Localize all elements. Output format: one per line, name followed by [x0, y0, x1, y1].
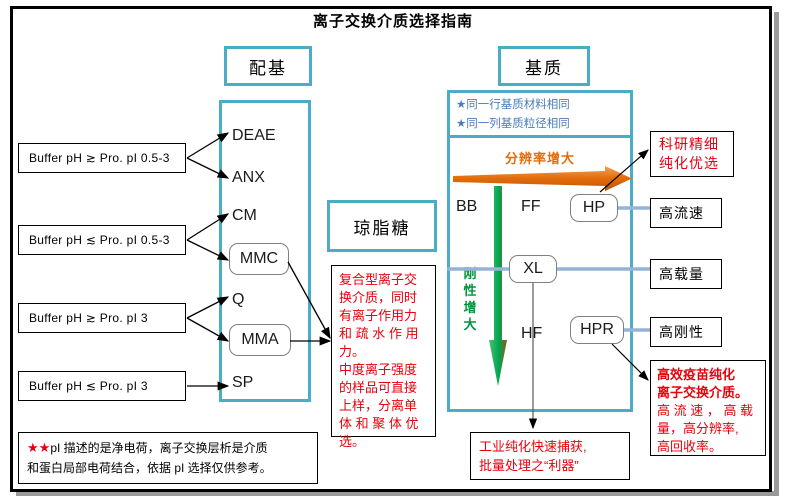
footnote-line-2: 和蛋白局部电荷结合，依据 pI 选择仅供参考。: [27, 458, 317, 478]
result-box-research: 科研精细 纯化优选: [650, 131, 734, 177]
ligand-column-header: 配基: [224, 46, 312, 86]
matrix-cell-hp: HP: [570, 194, 618, 222]
matrix-cell-bb: BB: [456, 198, 477, 216]
result-box-high-capacity: 高载量: [650, 259, 722, 289]
industry-line-1: 工业纯化快速捕获,: [479, 437, 629, 456]
combo-note-line-3: 有离子作用力: [339, 307, 430, 325]
ligand-anx: ANX: [232, 169, 265, 187]
industry-note-box: 工业纯化快速捕获, 批量处理之“利器”: [470, 432, 630, 480]
ligand-deae: DEAE: [232, 127, 276, 145]
ligand-mmc: MMC: [229, 243, 289, 275]
footnote-text-1: pI 描述的是净电荷，离子交换层析是介质: [50, 441, 267, 455]
vaccine-reg-line-2: 量，高分辨率,: [657, 420, 761, 438]
buffer-condition-box-4: Buffer pH ≲ Pro. pI 3: [18, 371, 186, 401]
vaccine-note-box: 高效疫苗纯化 离子交换介质。 高 流 速 ， 高 载 量，高分辨率, 高回收率。: [650, 360, 766, 456]
matrix-note-row: ★同一行基质材料相同: [456, 96, 626, 115]
ligand-sp: SP: [232, 374, 253, 392]
ligand-cm: CM: [232, 207, 257, 225]
ligand-q: Q: [232, 291, 244, 309]
combo-note-line-9: 体 和 聚 体 优: [339, 415, 430, 433]
footnote-box: ★★pI 描述的是净电荷，离子交换层析是介质 和蛋白局部电荷结合，依据 pI 选…: [18, 432, 318, 484]
matrix-column-header: 基质: [498, 46, 590, 86]
vaccine-bold-line-2: 离子交换介质。: [657, 384, 761, 402]
combo-note-line-7: 的样品可直接: [339, 379, 430, 397]
combo-note-line-8: 上样，分离单: [339, 397, 430, 415]
combo-note-line-10: 选。: [339, 433, 430, 451]
vaccine-reg-line-1: 高 流 速 ， 高 载: [657, 402, 761, 420]
vaccine-reg-line-3: 高回收率。: [657, 438, 761, 456]
result-research-line-1: 科研精细: [659, 135, 719, 154]
buffer-condition-box-1: Buffer pH ≳ Pro. pI 0.5-3: [18, 143, 186, 173]
result-box-high-flow: 高流速: [650, 198, 722, 228]
combo-note-line-5: 力。: [339, 343, 430, 361]
resolution-arrow-label: 分辨率增大: [447, 148, 633, 167]
matrix-cell-xl: XL: [509, 255, 557, 283]
matrix-column: [447, 90, 633, 412]
ligand-mma: MMA: [229, 324, 291, 356]
diagram-canvas: 离子交换介质选择指南 配基 基质 琼脂糖 Buffer pH ≳ Pro. pI…: [0, 0, 786, 502]
matrix-cell-ff: FF: [521, 198, 541, 216]
matrix-cell-hpr: HPR: [570, 316, 624, 344]
page-title: 离子交换介质选择指南: [0, 10, 786, 31]
footnote-stars: ★★: [27, 440, 50, 455]
result-research-line-2: 纯化优选: [659, 154, 719, 173]
combo-note-line-4: 和 疏 水 作 用: [339, 325, 430, 343]
buffer-condition-box-3: Buffer pH ≳ Pro. pI 3: [18, 303, 186, 333]
stiffness-arrow-label: 刚性增大: [462, 265, 478, 333]
industry-line-2: 批量处理之“利器”: [479, 456, 629, 475]
combo-note-line-2: 换介质，同时: [339, 289, 430, 307]
frame-shadow-right: [774, 12, 779, 496]
matrix-cell-hf: HF: [521, 325, 542, 343]
matrix-note-column: ★同一列基质粒径相同: [456, 115, 626, 134]
footnote-line-1: ★★pI 描述的是净电荷，离子交换层析是介质: [27, 438, 317, 458]
vaccine-bold-line-1: 高效疫苗纯化: [657, 366, 761, 384]
combo-note-line-1: 复合型离子交: [339, 271, 430, 289]
result-box-high-rigidity: 高刚性: [650, 317, 722, 347]
matrix-notes-box: ★同一行基质材料相同 ★同一列基质粒径相同: [447, 90, 633, 138]
combined-mode-note-box: 复合型离子交 换介质，同时 有离子作用力 和 疏 水 作 用 力。 中度离子强度…: [331, 265, 436, 437]
combo-note-line-6: 中度离子强度: [339, 361, 430, 379]
buffer-condition-box-2: Buffer pH ≲ Pro. pI 0.5-3: [18, 225, 186, 255]
agarose-label-box: 琼脂糖: [327, 200, 437, 252]
